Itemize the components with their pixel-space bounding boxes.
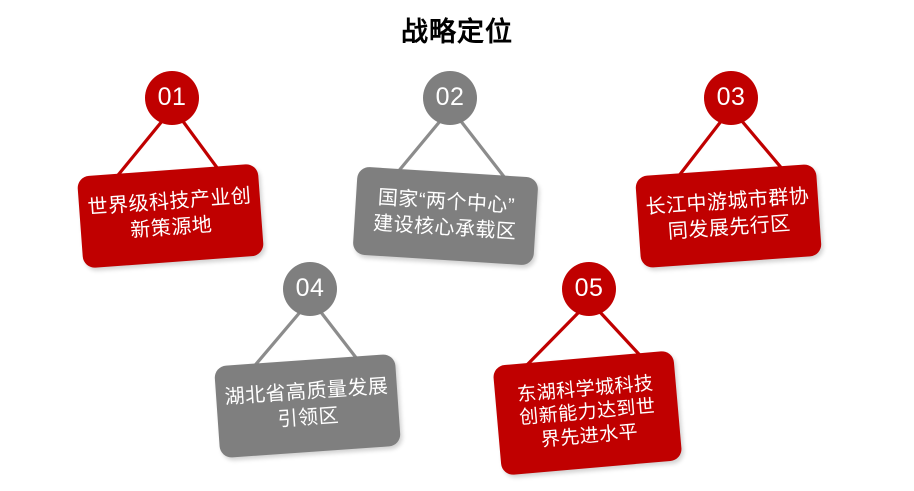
plaque-01[interactable]: 世界级科技产业创 新策源地 xyxy=(77,163,264,268)
plaque-03-label: 长江中游城市群协 同发展先行区 xyxy=(645,185,812,248)
plaque-02[interactable]: 国家“两个中心” 建设核心承载区 xyxy=(352,166,538,265)
badge-02-number: 02 xyxy=(436,85,465,110)
plaque-05[interactable]: 东湖科学城科技 创新能力达到世 界先进水平 xyxy=(493,350,683,475)
plaque-04-label: 湖北省高质量发展 引领区 xyxy=(224,375,391,438)
badge-03-number: 03 xyxy=(717,85,746,110)
badge-03[interactable]: 03 xyxy=(704,71,758,125)
badge-05-number: 05 xyxy=(575,276,604,301)
plaque-02-label: 国家“两个中心” 建设核心承载区 xyxy=(372,186,518,246)
plaque-05-label: 东湖科学城科技 创新能力达到世 界先进水平 xyxy=(516,372,658,453)
plaque-01-label: 世界级科技产业创 新策源地 xyxy=(87,184,254,247)
page-title: 战略定位 xyxy=(0,18,914,48)
badge-01-number: 01 xyxy=(158,85,187,110)
plaque-04[interactable]: 湖北省高质量发展 引领区 xyxy=(214,354,401,458)
badge-01[interactable]: 01 xyxy=(145,71,199,125)
infographic-canvas: 战略定位 01 世界级科技产业创 新策源地 02 国家“两个中心” 建设核心承 xyxy=(0,0,914,491)
badge-04[interactable]: 04 xyxy=(283,262,337,316)
badge-02[interactable]: 02 xyxy=(423,71,477,125)
badge-05[interactable]: 05 xyxy=(562,262,616,316)
badge-04-number: 04 xyxy=(296,276,325,301)
plaque-03[interactable]: 长江中游城市群协 同发展先行区 xyxy=(635,164,822,268)
